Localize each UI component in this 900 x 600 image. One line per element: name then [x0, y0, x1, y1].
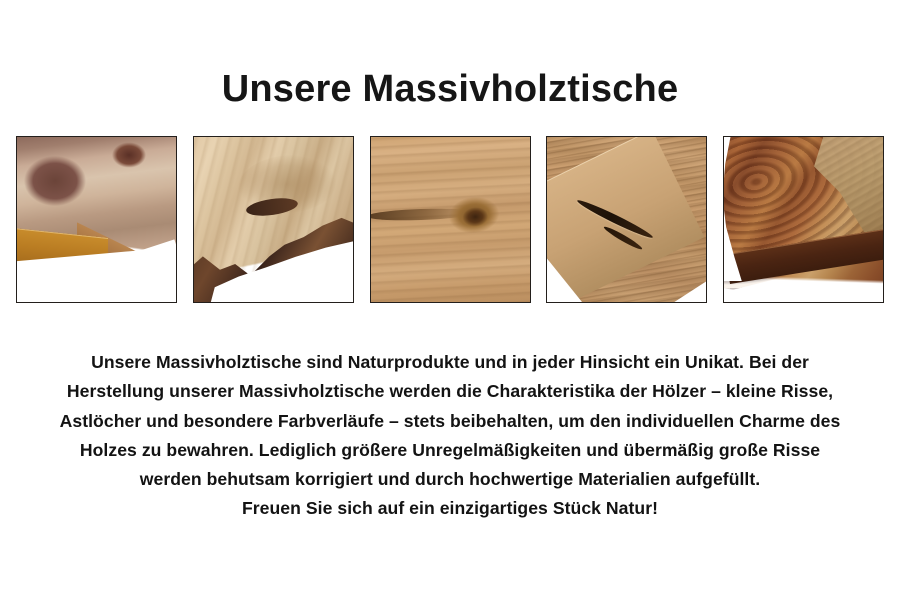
- description-line: Freuen Sie sich auf ein einzigartiges St…: [0, 494, 900, 523]
- rosewood-slab-corner-icon: [724, 137, 883, 302]
- light-wood-with-dark-live-edge-icon: [194, 137, 353, 302]
- tan-wood-grain-with-knot-icon: [371, 137, 530, 302]
- rough-sawn-board-with-crack-icon: [547, 137, 706, 302]
- gallery-image-tan-wood-grain-with-knot[interactable]: [370, 136, 531, 303]
- image-gallery: [16, 136, 884, 303]
- gallery-image-wood-slab-corner-with-burl-knot[interactable]: [16, 136, 177, 303]
- page-title: Unsere Massivholztische: [0, 66, 900, 112]
- description-line: Unsere Massivholztische sind Naturproduk…: [0, 348, 900, 377]
- gallery-image-light-wood-with-dark-live-edge[interactable]: [193, 136, 354, 303]
- page-root: Unsere Massivholztische: [0, 0, 900, 600]
- gallery-image-rough-sawn-board-with-crack[interactable]: [546, 136, 707, 303]
- gallery-image-rosewood-slab-corner[interactable]: [723, 136, 884, 303]
- wood-slab-corner-with-burl-knot-icon: [17, 137, 176, 302]
- description-paragraph: Unsere Massivholztische sind Naturproduk…: [0, 348, 900, 524]
- description-line: Astlöcher und besondere Farbverläufe – s…: [0, 407, 900, 436]
- description-line: Herstellung unserer Massivholztische wer…: [0, 377, 900, 406]
- description-line: Holzes zu bewahren. Lediglich größere Un…: [0, 436, 900, 465]
- description-line: werden behutsam korrigiert und durch hoc…: [0, 465, 900, 494]
